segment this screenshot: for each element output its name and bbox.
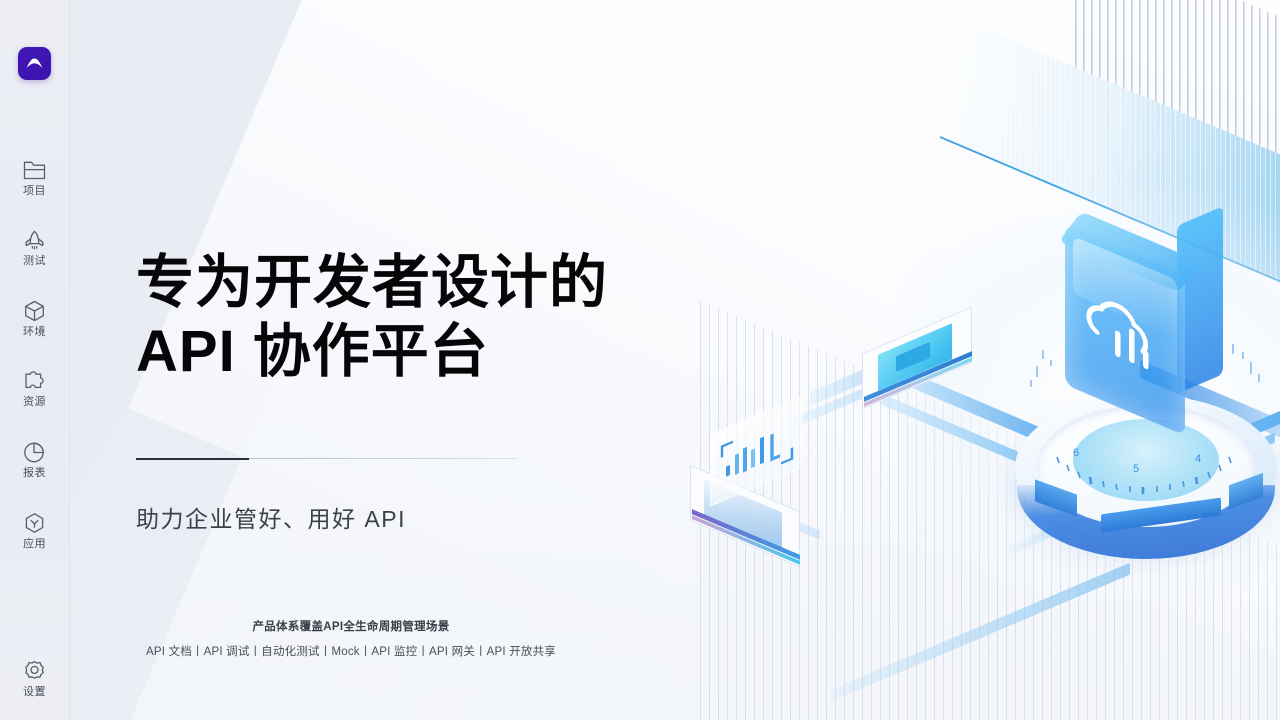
sidebar-item-apps[interactable]: 应用 bbox=[7, 512, 63, 550]
app-logo-button[interactable] bbox=[18, 47, 51, 80]
sparkle-tick bbox=[1250, 362, 1252, 374]
sparkle-tick bbox=[1036, 366, 1038, 377]
footer-feature-list: API 文档丨API 调试丨自动化测试丨Mock丨API 监控丨API 网关丨A… bbox=[136, 643, 566, 659]
sidebar-item-test[interactable]: 测试 bbox=[7, 230, 63, 267]
sidebar-item-reports[interactable]: 报表 bbox=[7, 441, 63, 479]
sparkle-tick bbox=[1242, 352, 1244, 359]
sidebar-item-label: 报表 bbox=[23, 468, 46, 479]
chevron-up-logo-icon bbox=[25, 57, 44, 70]
sidebar-item-label: 环境 bbox=[23, 327, 46, 338]
sparkle-tick bbox=[1232, 344, 1234, 354]
puzzle-icon bbox=[23, 371, 46, 392]
sidebar-item-label: 设置 bbox=[23, 687, 46, 698]
dial-number: 4 bbox=[1195, 453, 1201, 465]
dial-number: 6 bbox=[1073, 447, 1079, 459]
sidebar-item-label: 应用 bbox=[23, 539, 46, 550]
pie-chart-icon bbox=[23, 441, 46, 463]
glass-cube bbox=[1065, 228, 1225, 448]
folder-icon bbox=[23, 160, 46, 181]
landing-page: 6 5 4 bbox=[0, 0, 1280, 720]
rocket-icon bbox=[23, 230, 46, 251]
sparkle-tick bbox=[1030, 380, 1032, 387]
sparkle-tick bbox=[1258, 374, 1260, 382]
platform-chip bbox=[862, 330, 972, 386]
hero-footer: 产品体系覆盖API全生命周期管理场景 API 文档丨API 调试丨自动化测试丨M… bbox=[136, 618, 566, 659]
data-ribbon bbox=[830, 563, 1130, 702]
sidebar-item-label: 测试 bbox=[23, 256, 46, 267]
footer-headline: 产品体系覆盖API全生命周期管理场景 bbox=[136, 618, 566, 634]
sidebar-item-settings[interactable]: 设置 bbox=[7, 660, 63, 698]
hero-section: 专为开发者设计的 API 协作平台 助力企业管好、用好 API 产品体系覆盖AP… bbox=[136, 0, 756, 720]
sidebar-item-environment[interactable]: 环境 bbox=[7, 300, 63, 338]
sidebar-item-projects[interactable]: 项目 bbox=[7, 160, 63, 197]
cube-icon bbox=[23, 300, 46, 322]
page-subtitle: 助力企业管好、用好 API bbox=[136, 500, 406, 534]
divider bbox=[136, 458, 518, 460]
page-title: 专为开发者设计的 API 协作平台 bbox=[136, 248, 736, 386]
dial-number: 5 bbox=[1133, 463, 1139, 475]
app-hexagon-icon bbox=[23, 512, 46, 534]
sparkle-tick bbox=[1050, 360, 1052, 366]
gear-icon bbox=[23, 660, 46, 682]
sidebar-item-label: 资源 bbox=[23, 397, 46, 408]
sidebar-item-resources[interactable]: 资源 bbox=[7, 371, 63, 408]
sidebar-item-label: 项目 bbox=[23, 186, 46, 197]
sidebar: 项目 测试 环境 bbox=[0, 0, 70, 720]
sparkle-tick bbox=[1042, 350, 1044, 359]
sidebar-nav: 项目 测试 环境 bbox=[7, 160, 63, 550]
